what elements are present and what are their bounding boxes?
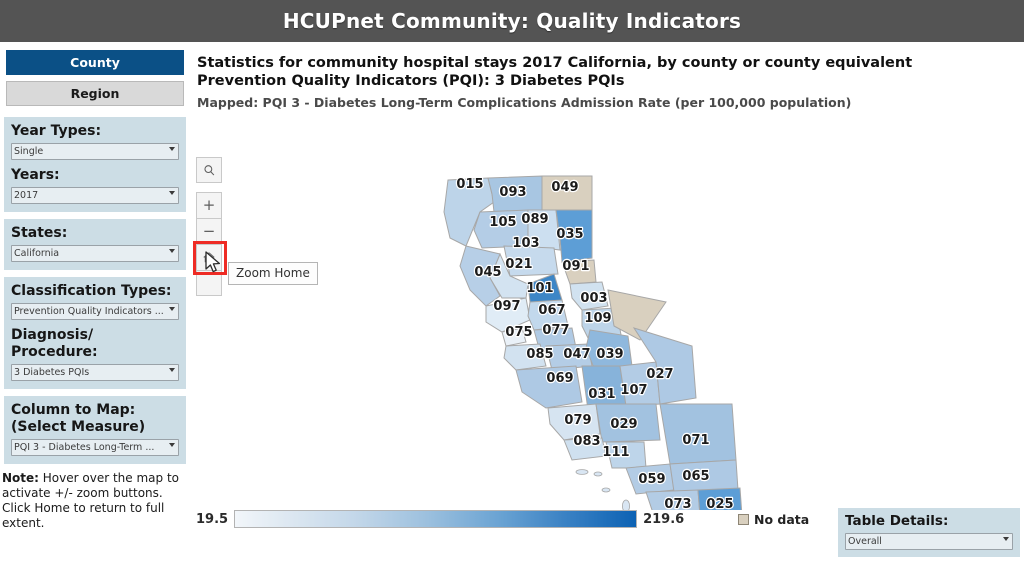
county-label-071: 071 (682, 433, 709, 448)
classification-types-label: Classification Types: (11, 283, 179, 300)
county-label-069: 069 (546, 371, 573, 386)
year-types-label: Year Types: (11, 123, 179, 140)
island-shape-4 (622, 500, 629, 510)
legend-nodata: No data (738, 512, 809, 527)
diagnosis-procedure-label: Diagnosis/ Procedure: (11, 327, 179, 361)
sidebar-tab-county[interactable]: County (6, 50, 184, 75)
years-label: Years: (11, 167, 179, 184)
county-label-065: 065 (682, 469, 709, 484)
sidebar-tab-county-label: County (70, 55, 120, 70)
county-label-015: 015 (456, 177, 483, 192)
county-label-089: 089 (521, 212, 548, 227)
table-details-panel: Table Details: Overall (838, 508, 1020, 557)
app-header: HCUPnet Community: Quality Indicators (0, 0, 1024, 42)
page-title-line1: Statistics for community hospital stays … (197, 54, 1017, 72)
sidebar-note-prefix: Note: (2, 471, 39, 485)
sidebar-tab-region[interactable]: Region (6, 81, 184, 106)
filter-group-classification: Classification Types: Prevention Quality… (4, 277, 186, 389)
zoom-home-tooltip: Zoom Home (228, 262, 318, 285)
county-label-059: 059 (638, 472, 665, 487)
map-zoom-stack: + − (196, 192, 224, 296)
county-label-031: 031 (588, 387, 615, 402)
years-select[interactable]: 2017 (11, 187, 179, 204)
county-label-075: 075 (505, 325, 532, 340)
county-label-107: 107 (620, 383, 647, 398)
county-label-039: 039 (596, 347, 623, 362)
legend-max-value: 219.6 (643, 512, 684, 527)
county-label-097: 097 (493, 299, 520, 314)
county-label-085: 085 (526, 347, 553, 362)
island-shape-2 (594, 472, 602, 476)
county-label-111: 111 (602, 445, 629, 460)
table-details-select[interactable]: Overall (845, 533, 1013, 550)
county-label-047: 047 (563, 347, 590, 362)
county-label-067: 067 (538, 303, 565, 318)
column-to-map-select[interactable]: PQI 3 - Diabetes Long-Term ... (11, 439, 179, 456)
sidebar: County Region Year Types: Single Years: … (0, 50, 190, 569)
county-label-101: 101 (526, 281, 553, 296)
county-label-045: 045 (474, 265, 501, 280)
legend-min-value: 19.5 (196, 512, 228, 527)
legend-nodata-label: No data (754, 512, 809, 527)
states-select[interactable]: California (11, 245, 179, 262)
county-label-077: 077 (542, 323, 569, 338)
filter-group-column-to-map: Column to Map: (Select Measure) PQI 3 - … (4, 396, 186, 464)
legend-color-ramp (234, 510, 637, 528)
sidebar-note: Note: Hover over the map to activate +/-… (2, 471, 186, 531)
map-zoom-in-button[interactable]: + (196, 192, 222, 218)
mouse-cursor (203, 250, 225, 276)
county-label-029: 029 (610, 417, 637, 432)
california-county-choropleth[interactable]: 015 093 049 105 089 035 103 021 091 045 … (430, 150, 770, 510)
map-search-button[interactable] (196, 157, 222, 183)
county-label-027: 027 (646, 367, 673, 382)
page-title-line2: Prevention Quality Indicators (PQI): 3 D… (197, 72, 1017, 90)
column-to-map-label: Column to Map: (Select Measure) (11, 402, 179, 436)
county-label-109: 109 (584, 311, 611, 326)
county-label-103: 103 (512, 236, 539, 251)
county-label-105: 105 (489, 215, 516, 230)
county-label-073: 073 (664, 497, 691, 510)
county-label-079: 079 (564, 413, 591, 428)
island-shape-3 (602, 488, 610, 492)
nodata-swatch-icon (738, 514, 749, 525)
table-details-label: Table Details: (845, 513, 1013, 530)
diagnosis-procedure-select[interactable]: 3 Diabetes PQIs (11, 364, 179, 381)
app-title: HCUPnet Community: Quality Indicators (283, 9, 741, 33)
classification-types-select[interactable]: Prevention Quality Indicators ... (11, 303, 179, 320)
filter-group-years: Year Types: Single Years: 2017 (4, 117, 186, 212)
filter-group-states: States: California (4, 219, 186, 270)
county-label-091: 091 (562, 259, 589, 274)
county-label-049: 049 (551, 180, 578, 195)
island-shape-1 (576, 470, 588, 475)
year-types-select[interactable]: Single (11, 143, 179, 160)
magnifier-icon (203, 164, 216, 177)
county-label-093: 093 (499, 185, 526, 200)
page-subtitle: Mapped: PQI 3 - Diabetes Long-Term Compl… (197, 95, 1017, 111)
county-label-035: 035 (556, 227, 583, 242)
county-label-025: 025 (706, 497, 733, 510)
plus-icon: + (203, 198, 216, 213)
county-label-021: 021 (505, 257, 532, 272)
county-label-083: 083 (573, 434, 600, 449)
page-title: Statistics for community hospital stays … (197, 54, 1017, 90)
minus-icon: − (203, 224, 216, 239)
states-label: States: (11, 225, 179, 242)
sidebar-tab-region-label: Region (71, 86, 120, 101)
map-legend: 19.5 219.6 (196, 510, 684, 528)
county-label-003: 003 (580, 291, 607, 306)
